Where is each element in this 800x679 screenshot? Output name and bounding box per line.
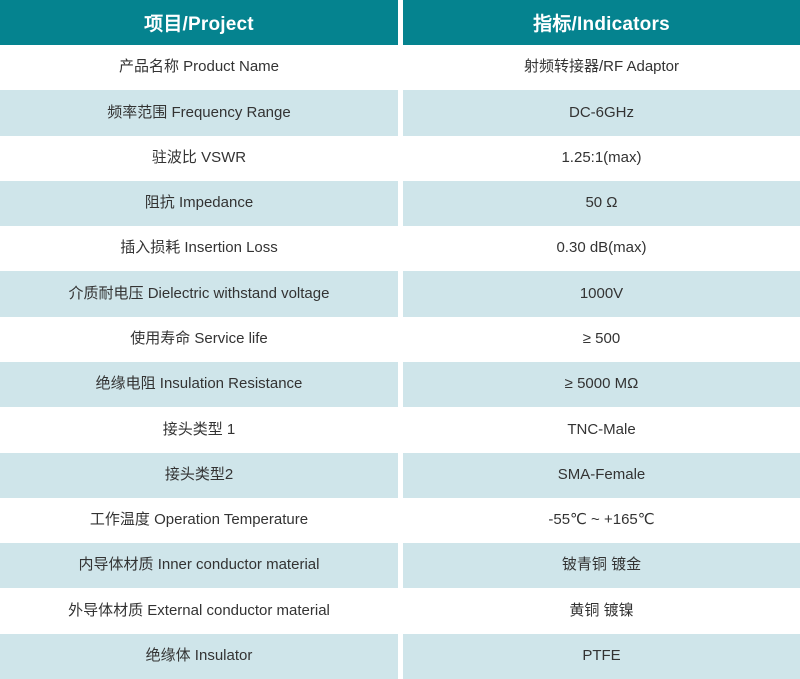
cell-indicators: DC-6GHz bbox=[403, 90, 800, 135]
table-row: 内导体材质 Inner conductor material铍青铜 镀金 bbox=[0, 543, 800, 588]
table-body: 产品名称 Product Name射频转接器/RF Adaptor频率范围 Fr… bbox=[0, 45, 800, 679]
table-row: 绝缘电阻 Insulation Resistance≥ 5000 MΩ bbox=[0, 362, 800, 407]
table-row: 接头类型 1TNC-Male bbox=[0, 407, 800, 452]
cell-indicators: 黄铜 镀镍 bbox=[403, 588, 800, 633]
cell-project: 内导体材质 Inner conductor material bbox=[0, 543, 398, 588]
cell-project: 接头类型 1 bbox=[0, 407, 398, 452]
table-row: 外导体材质 External conductor material黄铜 镀镍 bbox=[0, 588, 800, 633]
table-row: 阻抗 Impedance50 Ω bbox=[0, 181, 800, 226]
table-header-row: 项目/Project 指标/Indicators bbox=[0, 0, 800, 45]
cell-project: 使用寿命 Service life bbox=[0, 317, 398, 362]
cell-project: 插入损耗 Insertion Loss bbox=[0, 226, 398, 271]
cell-project: 绝缘体 Insulator bbox=[0, 634, 398, 679]
table-row: 绝缘体 InsulatorPTFE bbox=[0, 634, 800, 679]
table-row: 介质耐电压 Dielectric withstand voltage1000V bbox=[0, 271, 800, 316]
specification-table: 项目/Project 指标/Indicators 产品名称 Product Na… bbox=[0, 0, 800, 679]
table-row: 工作温度 Operation Temperature-55℃ ~ +165℃ bbox=[0, 498, 800, 543]
cell-indicators: 50 Ω bbox=[403, 181, 800, 226]
cell-indicators: -55℃ ~ +165℃ bbox=[403, 498, 800, 543]
cell-project: 驻波比 VSWR bbox=[0, 136, 398, 181]
cell-project: 频率范围 Frequency Range bbox=[0, 90, 398, 135]
cell-indicators: SMA-Female bbox=[403, 453, 800, 498]
table-row: 插入损耗 Insertion Loss0.30 dB(max) bbox=[0, 226, 800, 271]
cell-project: 介质耐电压 Dielectric withstand voltage bbox=[0, 271, 398, 316]
table-row: 使用寿命 Service life≥ 500 bbox=[0, 317, 800, 362]
cell-project: 产品名称 Product Name bbox=[0, 45, 398, 90]
cell-indicators: PTFE bbox=[403, 634, 800, 679]
cell-indicators: ≥ 500 bbox=[403, 317, 800, 362]
cell-project: 外导体材质 External conductor material bbox=[0, 588, 398, 633]
cell-indicators: TNC-Male bbox=[403, 407, 800, 452]
cell-project: 绝缘电阻 Insulation Resistance bbox=[0, 362, 398, 407]
table-row: 驻波比 VSWR1.25:1(max) bbox=[0, 136, 800, 181]
table-row: 频率范围 Frequency RangeDC-6GHz bbox=[0, 90, 800, 135]
column-header-indicators: 指标/Indicators bbox=[403, 0, 800, 45]
cell-project: 阻抗 Impedance bbox=[0, 181, 398, 226]
cell-indicators: 1.25:1(max) bbox=[403, 136, 800, 181]
column-header-project: 项目/Project bbox=[0, 0, 398, 45]
cell-indicators: 1000V bbox=[403, 271, 800, 316]
cell-indicators: ≥ 5000 MΩ bbox=[403, 362, 800, 407]
cell-indicators: 铍青铜 镀金 bbox=[403, 543, 800, 588]
table-row: 产品名称 Product Name射频转接器/RF Adaptor bbox=[0, 45, 800, 90]
cell-project: 工作温度 Operation Temperature bbox=[0, 498, 398, 543]
cell-indicators: 0.30 dB(max) bbox=[403, 226, 800, 271]
cell-indicators: 射频转接器/RF Adaptor bbox=[403, 45, 800, 90]
table-row: 接头类型2SMA-Female bbox=[0, 453, 800, 498]
cell-project: 接头类型2 bbox=[0, 453, 398, 498]
